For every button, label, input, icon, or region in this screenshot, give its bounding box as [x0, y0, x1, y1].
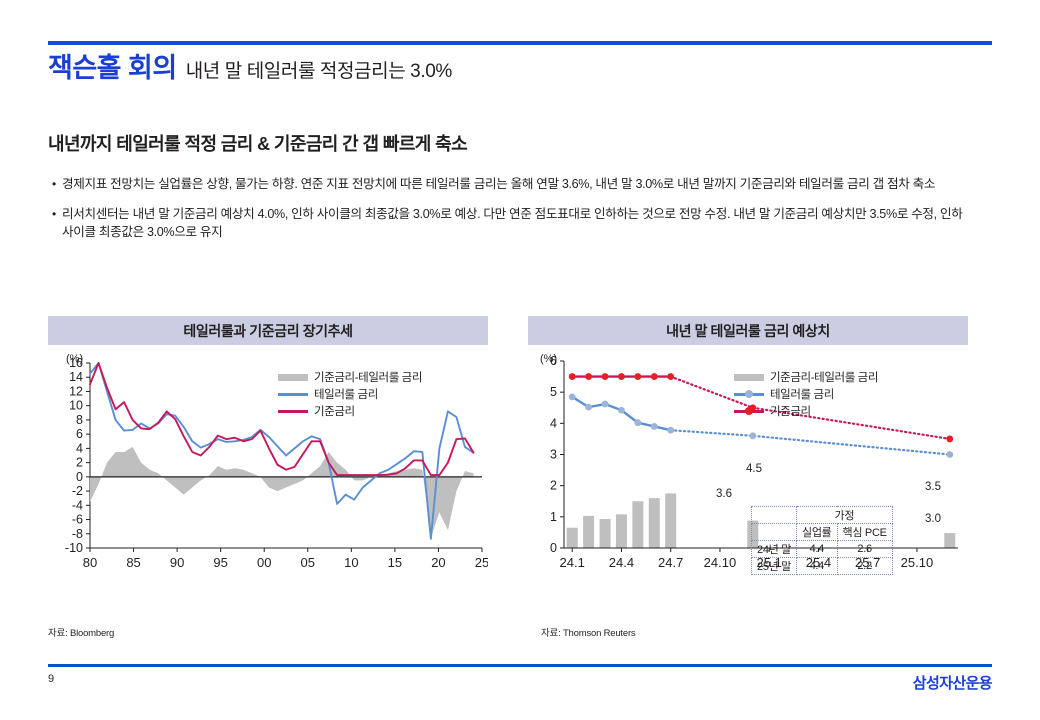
chart-title: 테일러룰과 기준금리 장기추세 — [48, 316, 488, 345]
data-label-taylor-end: 3.0 — [925, 513, 941, 525]
svg-text:6: 6 — [76, 427, 83, 441]
table-group-header: 가정 — [797, 507, 893, 524]
brand-logo: 삼성자산운용 — [913, 672, 992, 693]
bullet-marker-icon: • — [52, 205, 62, 223]
legend-label: 기준금리-테일러룰 금리 — [770, 369, 878, 385]
table-row: 25년 말 4.4 2.2 — [752, 558, 893, 575]
list-item: • 리서치센터는 내년 말 기준금리 예상치 4.0%, 인하 사이클의 최종값… — [52, 205, 987, 242]
legend-label: 테일러룰 금리 — [770, 386, 834, 402]
chart-panel-long-term: 테일러룰과 기준금리 장기추세 (%) 기준금리-테일러룰 금리 테일러룰 금리… — [48, 316, 488, 610]
svg-text:90: 90 — [170, 555, 184, 570]
source-note-right: 자료: Thomson Reuters — [541, 625, 635, 639]
footer-rule — [48, 664, 992, 667]
legend-item-policy: 기준금리 — [276, 403, 422, 419]
svg-text:25: 25 — [475, 555, 488, 570]
svg-text:12: 12 — [69, 384, 83, 398]
source-note-left: 자료: Bloomberg — [48, 625, 114, 639]
list-item: • 경제지표 전망치는 실업률은 상향, 물가는 하향. 연준 지표 전망치에 … — [52, 175, 987, 194]
legend-label: 기준금리 — [314, 403, 355, 419]
table-row-label-2024: 24년 말 — [752, 541, 797, 558]
bullet-text: 리서치센터는 내년 말 기준금리 예상치 4.0%, 인하 사이클의 최종값을 … — [62, 205, 987, 242]
svg-text:3: 3 — [550, 448, 557, 462]
svg-text:95: 95 — [213, 555, 227, 570]
svg-text:0: 0 — [550, 541, 557, 555]
svg-text:4: 4 — [76, 441, 83, 455]
svg-text:85: 85 — [126, 555, 140, 570]
data-label-policy-end: 3.5 — [925, 481, 941, 493]
svg-text:-6: -6 — [72, 513, 83, 527]
svg-text:15: 15 — [388, 555, 402, 570]
table-cell-unemployment-2025: 4.4 — [797, 558, 837, 575]
legend-item-taylor: 테일러룰 금리 — [732, 386, 878, 402]
header-rule — [48, 41, 992, 45]
table-col-header-unemployment: 실업률 — [797, 524, 837, 541]
table-row: 가정 — [752, 507, 893, 524]
data-label-policy-mid: 4.5 — [746, 463, 762, 475]
slide-root: 잭슨홀 회의 내년 말 테일러룰 적정금리는 3.0% 내년까지 테일러룰 적정… — [0, 0, 1040, 720]
svg-text:80: 80 — [83, 555, 97, 570]
svg-text:24.4: 24.4 — [609, 555, 634, 570]
svg-text:24.10: 24.10 — [704, 555, 737, 570]
table-row: 24년 말 4.4 2.6 — [752, 541, 893, 558]
table-cell-empty — [752, 507, 797, 524]
legend-swatch-line-blue-icon — [276, 387, 310, 401]
legend-label: 기준금리 — [770, 403, 811, 419]
page-title-rest: 내년 말 테일러룰 적정금리는 3.0% — [186, 62, 452, 81]
legend-item-taylor: 테일러룰 금리 — [276, 386, 422, 402]
table-row-label-2025: 25년 말 — [752, 558, 797, 575]
table-cell-core-pce-2025: 2.2 — [837, 558, 892, 575]
svg-text:10: 10 — [344, 555, 358, 570]
legend-swatch-line-marker-red-icon — [732, 404, 766, 418]
legend-swatch-line-red-icon — [276, 404, 310, 418]
svg-text:-8: -8 — [72, 527, 83, 541]
legend-label: 테일러룰 금리 — [314, 386, 378, 402]
svg-text:10: 10 — [69, 399, 83, 413]
table-cell-unemployment-2024: 4.4 — [797, 541, 837, 558]
legend-item-policy: 기준금리 — [732, 403, 878, 419]
svg-text:14: 14 — [69, 370, 83, 384]
svg-text:2: 2 — [76, 456, 83, 470]
svg-text:4: 4 — [550, 416, 557, 430]
chart-legend: 기준금리-테일러룰 금리 테일러룰 금리 기준금리 — [732, 369, 878, 420]
table-row: 실업률 핵심 PCE — [752, 524, 893, 541]
page-number: 9 — [48, 673, 54, 685]
svg-text:5: 5 — [550, 385, 557, 399]
y-axis-unit: (%) — [540, 353, 557, 365]
bullet-marker-icon: • — [52, 175, 62, 193]
data-label-taylor-mid: 3.6 — [716, 488, 732, 500]
svg-text:2: 2 — [550, 479, 557, 493]
bullet-list: • 경제지표 전망치는 실업률은 상향, 물가는 하향. 연준 지표 전망치에 … — [52, 175, 987, 253]
legend-swatch-bar-icon — [732, 370, 766, 384]
table-cell-core-pce-2024: 2.6 — [837, 541, 892, 558]
bullet-text: 경제지표 전망치는 실업률은 상향, 물가는 하향. 연준 지표 전망치에 따른… — [62, 175, 935, 194]
svg-text:8: 8 — [76, 413, 83, 427]
page-title-highlight: 잭슨홀 회의 — [48, 55, 177, 82]
page-title: 잭슨홀 회의 내년 말 테일러룰 적정금리는 3.0% — [48, 55, 968, 91]
chart-legend: 기준금리-테일러룰 금리 테일러룰 금리 기준금리 — [276, 369, 422, 420]
table-cell-empty — [752, 524, 797, 541]
chart-plot-area: (%) 기준금리-테일러룰 금리 테일러룰 금리 기준금리 654321024.… — [528, 345, 968, 610]
svg-text:24.1: 24.1 — [560, 555, 585, 570]
chart-plot-area: (%) 기준금리-테일러룰 금리 테일러룰 금리 기준금리 1614121086… — [48, 345, 488, 610]
legend-label: 기준금리-테일러룰 금리 — [314, 369, 422, 385]
svg-text:1: 1 — [550, 510, 557, 524]
svg-text:24.7: 24.7 — [658, 555, 683, 570]
legend-item-gap: 기준금리-테일러룰 금리 — [732, 369, 878, 385]
y-axis-unit: (%) — [66, 353, 83, 365]
svg-text:25.10: 25.10 — [901, 555, 934, 570]
assumptions-table: 가정 실업률 핵심 PCE 24년 말 4.4 2.6 25년 말 4.4 2.… — [751, 506, 893, 575]
svg-text:05: 05 — [301, 555, 315, 570]
table-col-header-core-pce: 핵심 PCE — [837, 524, 892, 541]
svg-text:0: 0 — [76, 470, 83, 484]
legend-swatch-line-marker-blue-icon — [732, 387, 766, 401]
legend-item-gap: 기준금리-테일러룰 금리 — [276, 369, 422, 385]
chart-panel-forecast: 내년 말 테일러룰 금리 예상치 (%) 기준금리-테일러룰 금리 테일러룰 금… — [528, 316, 968, 610]
legend-swatch-bar-icon — [276, 370, 310, 384]
svg-text:-4: -4 — [72, 498, 83, 512]
svg-text:00: 00 — [257, 555, 271, 570]
svg-text:-2: -2 — [72, 484, 83, 498]
section-subheading: 내년까지 테일러룰 적정 금리 & 기준금리 간 갭 빠르게 축소 — [48, 130, 968, 156]
svg-text:20: 20 — [431, 555, 445, 570]
chart-title: 내년 말 테일러룰 금리 예상치 — [528, 316, 968, 345]
svg-text:-10: -10 — [65, 541, 83, 555]
